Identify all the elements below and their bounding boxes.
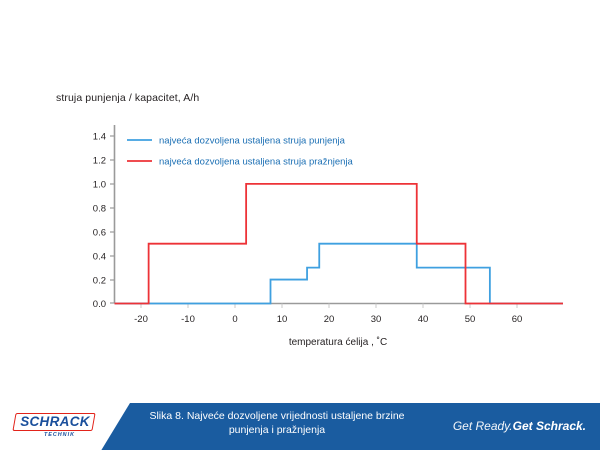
x-tick-label: 40 xyxy=(418,314,429,325)
tagline-bold: Get Schrack. xyxy=(513,419,586,433)
x-tick-label: 20 xyxy=(324,314,335,325)
y-tick-label: 0.0 xyxy=(93,299,106,310)
logo-subtitle: TECHNIK xyxy=(44,432,75,438)
legend-label-charge: najveća dozvoljena ustaljena struja punj… xyxy=(159,136,346,147)
y-tick-label: 0.8 xyxy=(93,204,106,215)
figure-caption-line1: Slika 8. Najveće dozvoljene vrijednosti … xyxy=(112,409,442,423)
x-tick-label: -20 xyxy=(134,314,148,325)
x-tick-label: 0 xyxy=(232,314,237,325)
x-tick-label: 60 xyxy=(512,314,523,325)
y-tick-label: 1.4 xyxy=(93,132,106,143)
x-axis-title: temperatura ćelija , ˚C xyxy=(289,336,387,348)
logo-wordmark: SCHRACK xyxy=(18,414,92,429)
y-tick-label: 0.2 xyxy=(93,276,106,287)
x-tick-label: -10 xyxy=(181,314,195,325)
figure-caption: Slika 8. Najveće dozvoljene vrijednosti … xyxy=(112,409,442,437)
y-tick-labels: 1.4 1.2 1.0 0.8 0.6 0.4 0.2 0.0 xyxy=(93,132,106,311)
y-tick-label: 1.2 xyxy=(93,156,106,167)
chart-svg: 1.4 1.2 1.0 0.8 0.6 0.4 0.2 0.0 xyxy=(0,0,600,395)
plot-area: 1.4 1.2 1.0 0.8 0.6 0.4 0.2 0.0 xyxy=(0,0,600,395)
series-layer xyxy=(115,184,564,304)
x-tick-label: 50 xyxy=(465,314,476,325)
brand-tagline: Get Ready.Get Schrack. xyxy=(453,419,586,433)
x-tick-label: 30 xyxy=(371,314,382,325)
chart-legend: najveća dozvoljena ustaljena struja punj… xyxy=(127,136,354,168)
chart-container: struja punjenja / kapacitet, A/h xyxy=(0,0,600,395)
legend-label-discharge: najveća dozvoljena ustaljena struja praž… xyxy=(159,157,354,168)
slide-page: struja punjenja / kapacitet, A/h xyxy=(0,0,600,450)
x-tick-label: 10 xyxy=(277,314,288,325)
schrack-logo: SCHRACK TECHNIK xyxy=(14,413,100,441)
series-line-charge xyxy=(115,244,564,304)
footer-banner: SCHRACK TECHNIK Slika 8. Najveće dozvolj… xyxy=(0,395,600,450)
y-tick-label: 0.6 xyxy=(93,228,106,239)
figure-caption-line2: punjenja i pražnjenja xyxy=(112,423,442,437)
y-tick-label: 1.0 xyxy=(93,180,106,191)
x-tick-labels: -20 -10 0 10 20 30 40 50 60 xyxy=(134,314,522,325)
tagline-soft: Get Ready. xyxy=(453,419,513,433)
y-tick-label: 0.4 xyxy=(93,252,106,263)
